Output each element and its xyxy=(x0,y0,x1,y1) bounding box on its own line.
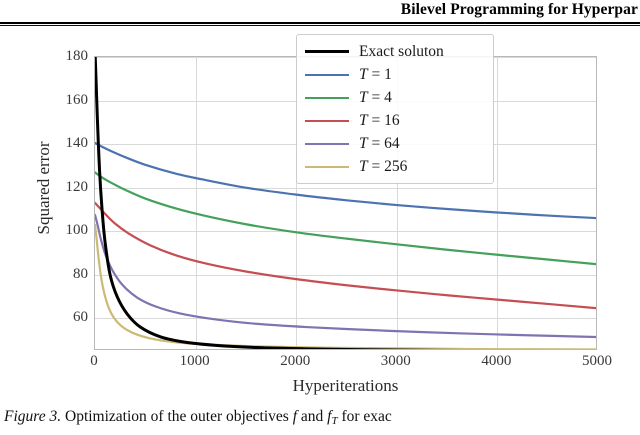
running-header: Bilevel Programming for Hyperpar xyxy=(0,0,640,24)
x-axis-label: Hyperiterations xyxy=(94,376,597,396)
x-tick-label: 1000 xyxy=(180,354,210,369)
x-tick-label: 3000 xyxy=(381,354,411,369)
legend-item-label: T = 4 xyxy=(359,89,392,107)
legend-item[interactable]: T = 64 xyxy=(305,132,485,155)
legend-item[interactable]: T = 1 xyxy=(305,63,485,86)
caption-math-f: f xyxy=(293,408,297,425)
series-line xyxy=(95,225,597,350)
figure-caption: Figure 3. Optimization of the outer obje… xyxy=(4,408,640,427)
legend-item-label: T = 1 xyxy=(359,66,392,84)
legend-color-swatch xyxy=(305,50,349,53)
legend-item[interactable]: T = 16 xyxy=(305,109,485,132)
x-axis-ticks: 010002000300040005000 xyxy=(94,354,597,376)
y-tick-label: 60 xyxy=(48,310,88,325)
y-tick-label: 180 xyxy=(48,49,88,64)
y-tick-label: 100 xyxy=(48,223,88,238)
legend-color-swatch xyxy=(305,166,349,168)
y-tick-label: 140 xyxy=(48,136,88,151)
legend-color-swatch xyxy=(305,97,349,99)
y-tick-label: 80 xyxy=(48,267,88,282)
header-rule-thin xyxy=(0,25,640,26)
series-line xyxy=(95,203,597,308)
header-rule-thick xyxy=(0,22,640,24)
y-axis-label: Squared error xyxy=(34,58,54,318)
legend-item-label: T = 16 xyxy=(359,112,400,130)
caption-text-3: for exac xyxy=(341,408,391,425)
legend-item[interactable]: T = 256 xyxy=(305,155,485,178)
legend-item-label: T = 256 xyxy=(359,158,407,176)
legend-item[interactable]: Exact soluton xyxy=(305,40,485,63)
y-tick-label: 120 xyxy=(48,180,88,195)
caption-text-2: and xyxy=(301,408,323,425)
figure-page: Bilevel Programming for Hyperpar 6080100… xyxy=(0,0,640,435)
caption-text-1: Optimization of the outer objectives xyxy=(65,408,289,425)
x-tick-label: 5000 xyxy=(582,354,612,369)
caption-math-fT-subscript: T xyxy=(331,415,337,427)
x-tick-label: 4000 xyxy=(481,354,511,369)
legend-item[interactable]: T = 4 xyxy=(305,86,485,109)
caption-figure-number: Figure 3. xyxy=(4,408,61,425)
series-line xyxy=(95,172,597,264)
figure-3: 6080100120140160180 01000200030004000500… xyxy=(0,28,640,400)
legend-color-swatch xyxy=(305,120,349,122)
running-header-title: Bilevel Programming for Hyperpar xyxy=(401,1,638,19)
x-tick-label: 0 xyxy=(90,354,98,369)
chart-legend: Exact solutonT = 1T = 4T = 16T = 64T = 2… xyxy=(296,34,494,184)
legend-color-swatch xyxy=(305,143,349,145)
series-line xyxy=(95,215,597,337)
y-tick-label: 160 xyxy=(48,93,88,108)
legend-color-swatch xyxy=(305,74,349,76)
legend-item-label: Exact soluton xyxy=(359,43,444,61)
legend-item-label: T = 64 xyxy=(359,135,400,153)
x-tick-label: 2000 xyxy=(280,354,310,369)
